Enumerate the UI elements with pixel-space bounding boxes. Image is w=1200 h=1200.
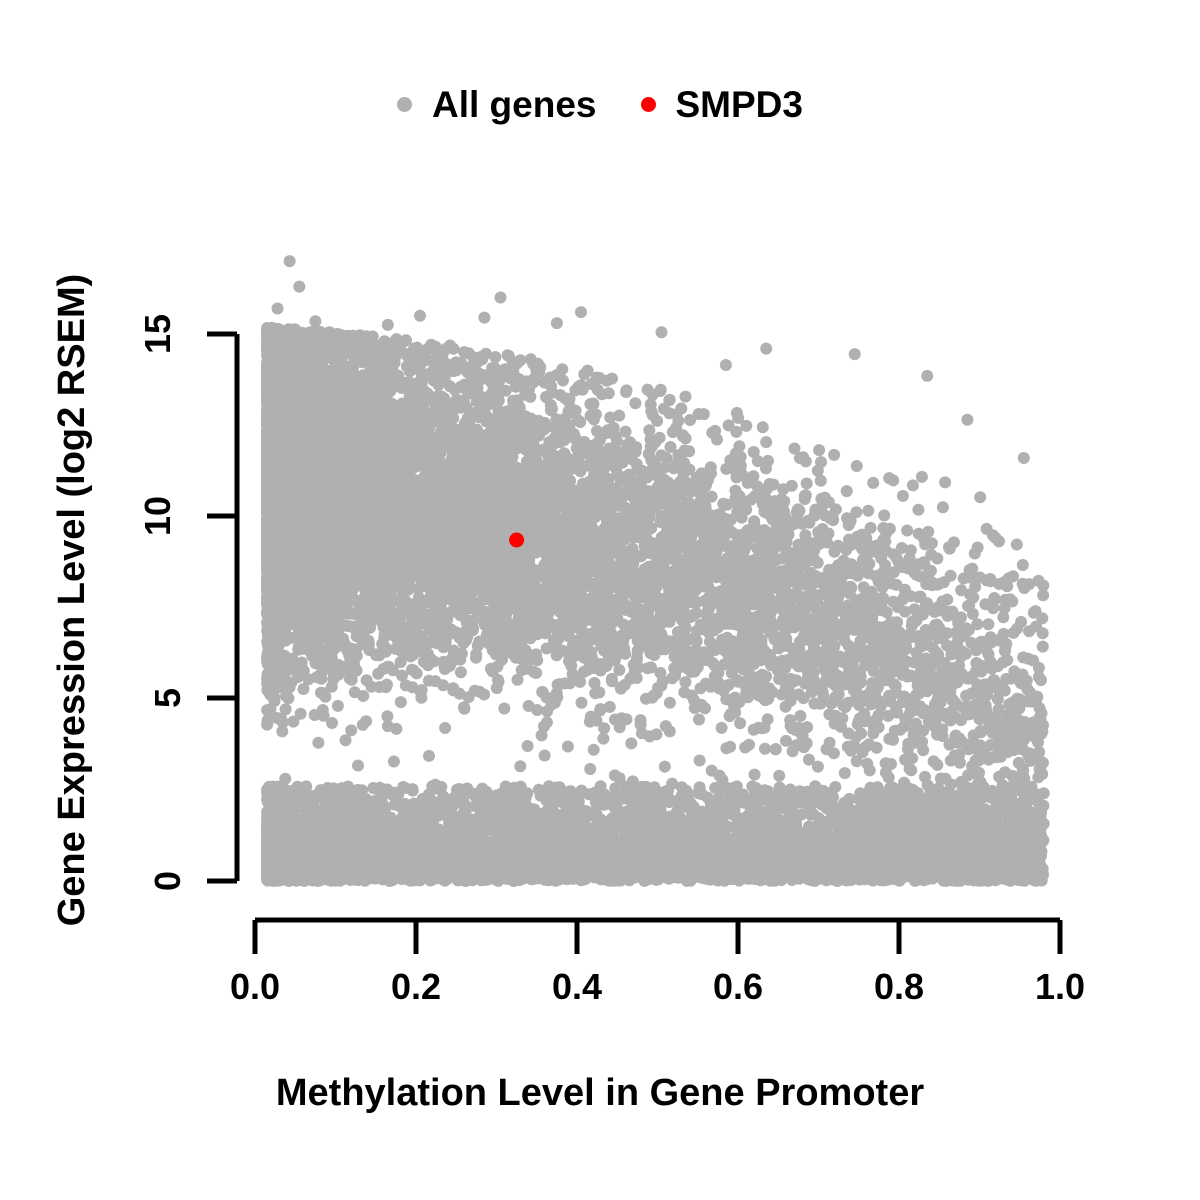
x-tick-label-0.0: 0.0: [230, 966, 280, 1008]
y-axis-title: Gene Expression Level (log2 RSEM): [44, 0, 100, 1200]
plot-canvas: [0, 0, 1200, 1200]
legend-marker-all-genes-icon: [397, 97, 412, 112]
legend-marker-smpd3-icon: [641, 97, 656, 112]
x-tick-label-0.6: 0.6: [713, 966, 763, 1008]
scatter-plot-figure: All genes SMPD3 15 10 5 0 0.0 0.2 0.4 0.…: [0, 0, 1200, 1200]
x-tick-label-1.0: 1.0: [1035, 966, 1085, 1008]
y-tick-label-15: 15: [137, 314, 179, 354]
x-axis-title: Methylation Level in Gene Promoter: [0, 1072, 1200, 1115]
x-tick-label-0.2: 0.2: [391, 966, 441, 1008]
y-tick-label-5: 5: [147, 688, 189, 708]
x-tick-label-0.4: 0.4: [552, 966, 602, 1008]
highlight-point-layer: [509, 533, 524, 548]
x-tick-label-0.8: 0.8: [874, 966, 924, 1008]
legend-entry-smpd3: SMPD3: [641, 86, 803, 123]
highlight-point-smpd3: [509, 533, 524, 548]
y-tick-label-10: 10: [137, 496, 179, 536]
legend-label-all-genes: All genes: [432, 86, 597, 123]
legend-entry-all-genes: All genes: [397, 86, 597, 123]
legend-label-smpd3: SMPD3: [676, 86, 803, 123]
legend: All genes SMPD3: [0, 86, 1200, 123]
y-tick-label-0: 0: [147, 871, 189, 891]
